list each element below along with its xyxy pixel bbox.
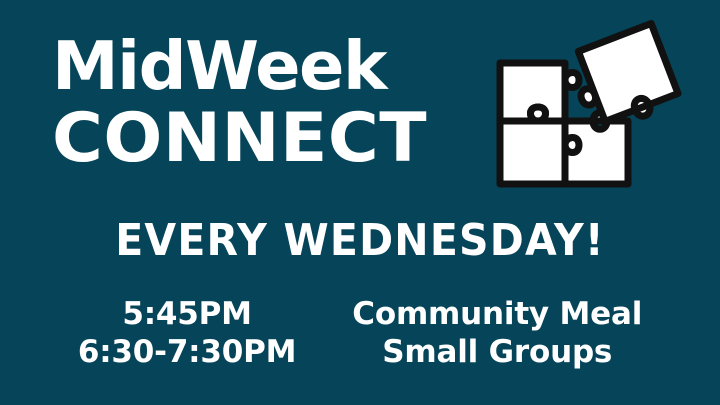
puzzle-pieces-icon <box>476 14 688 200</box>
puzzle-pieces-svg <box>476 14 688 200</box>
poster-canvas: MidWeek CONNECT EVERY WEDNESDAY! 5:45PM <box>0 0 720 405</box>
activity-line-2: Small Groups <box>352 334 642 372</box>
time-line-1: 5:45PM <box>78 296 296 334</box>
details-block: 5:45PM 6:30-7:30PM Community Meal Small … <box>0 296 720 372</box>
headline-line-2: CONNECT <box>52 106 491 171</box>
details-column-activities: Community Meal Small Groups <box>352 296 642 372</box>
headline-block: MidWeek CONNECT <box>52 34 482 172</box>
time-line-2: 6:30-7:30PM <box>78 334 296 372</box>
activity-line-1: Community Meal <box>352 296 642 334</box>
headline-line-1: MidWeek <box>52 34 482 98</box>
puzzle-piece-bottom-right <box>565 113 628 184</box>
details-column-times: 5:45PM 6:30-7:30PM <box>78 296 296 372</box>
subheadline: EVERY WEDNESDAY! <box>0 215 720 266</box>
